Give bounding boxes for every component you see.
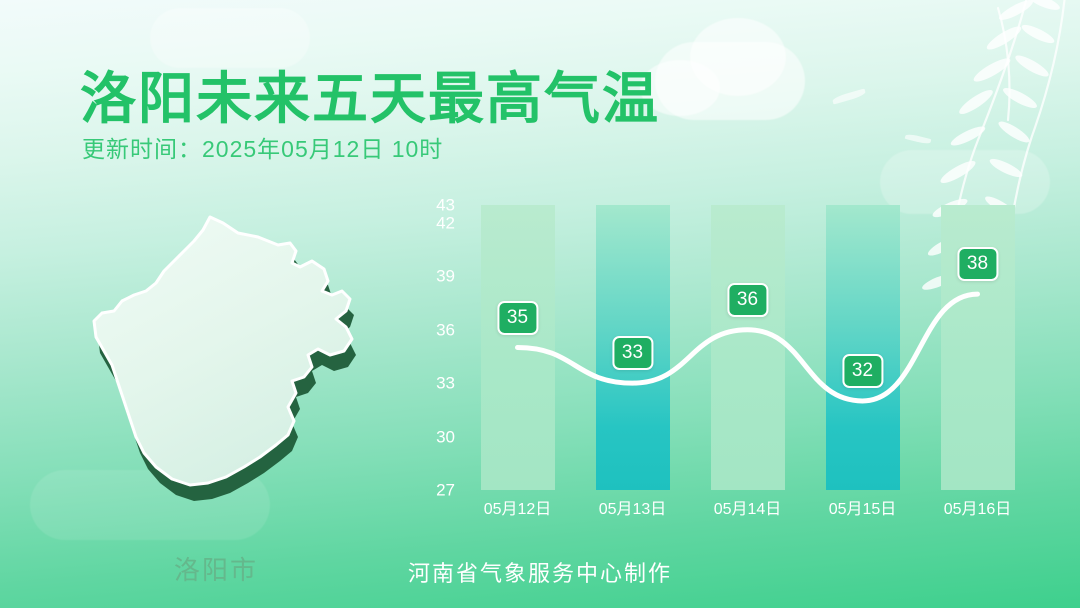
x-axis-label: 05月16日 <box>923 495 1033 519</box>
page-title: 洛阳未来五天最高气温 <box>80 54 660 135</box>
line-path <box>518 294 978 401</box>
y-axis-tick: 36 <box>415 321 455 338</box>
footer-credit: 河南省气象服务中心制作 <box>0 556 1080 588</box>
update-time-text: 更新时间：2025年05月12日 10时 <box>82 130 443 164</box>
weather-poster: 洛阳未来五天最高气温 更新时间：2025年05月12日 10时 洛阳市 4342… <box>0 0 1080 608</box>
x-axis-label: 05月13日 <box>578 495 688 519</box>
y-axis-tick: 43 <box>415 197 455 214</box>
leaf-icon <box>905 133 932 145</box>
x-axis: 05月12日05月13日05月14日05月15日05月16日 <box>460 495 1035 521</box>
y-axis-tick: 42 <box>415 214 455 231</box>
y-axis-tick: 39 <box>415 268 455 285</box>
cloud-icon <box>655 42 805 120</box>
cloud-icon <box>690 18 786 96</box>
x-axis-label: 05月15日 <box>808 495 918 519</box>
x-axis-label: 05月12日 <box>463 495 573 519</box>
map-shape-icon <box>60 195 410 515</box>
y-axis-tick: 30 <box>415 428 455 445</box>
y-axis-tick: 27 <box>415 482 455 499</box>
temperature-line <box>460 205 1035 490</box>
x-axis-label: 05月14日 <box>693 495 803 519</box>
leaf-icon <box>832 88 867 104</box>
luoyang-map: 洛阳市 <box>60 195 410 515</box>
y-axis-tick: 33 <box>415 375 455 392</box>
y-axis: 43423936333027 <box>415 205 455 495</box>
temperature-chart: 43423936333027 3533363238 05月12日05月13日05… <box>415 205 1035 505</box>
